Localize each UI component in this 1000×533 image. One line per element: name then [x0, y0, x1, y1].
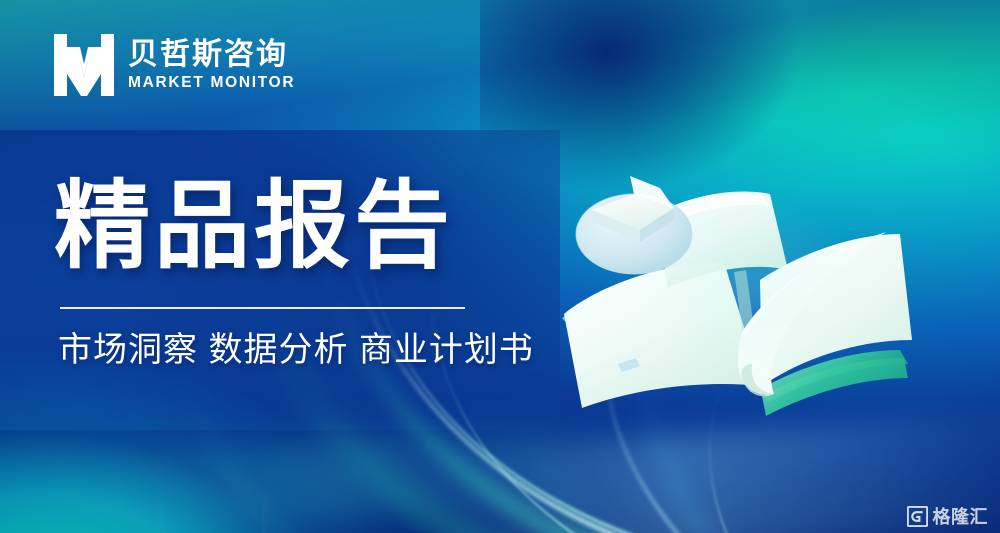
- brand-text-block: 贝哲斯咨询 MARKET MONITOR: [128, 36, 295, 95]
- page-title: 精品报告: [54, 176, 454, 278]
- market-monitor-m-logo-icon: [54, 34, 114, 96]
- gelonghui-g-logo-icon: [907, 506, 928, 527]
- brand-name-cn: 贝哲斯咨询: [128, 38, 295, 72]
- brand-name-en: MARKET MONITOR: [128, 71, 295, 94]
- title-divider: [60, 307, 465, 309]
- watermark-text: 格隆汇: [933, 508, 989, 526]
- open-book-with-pie-chart-icon: [556, 150, 936, 430]
- report-cover-banner: 贝哲斯咨询 MARKET MONITOR 精品报告 市场洞察 数据分析 商业计划…: [0, 0, 1000, 533]
- watermark: 格隆汇: [907, 506, 989, 527]
- brand-lockup: 贝哲斯咨询 MARKET MONITOR: [54, 34, 295, 96]
- page-subtitle: 市场洞察 数据分析 商业计划书: [58, 328, 534, 374]
